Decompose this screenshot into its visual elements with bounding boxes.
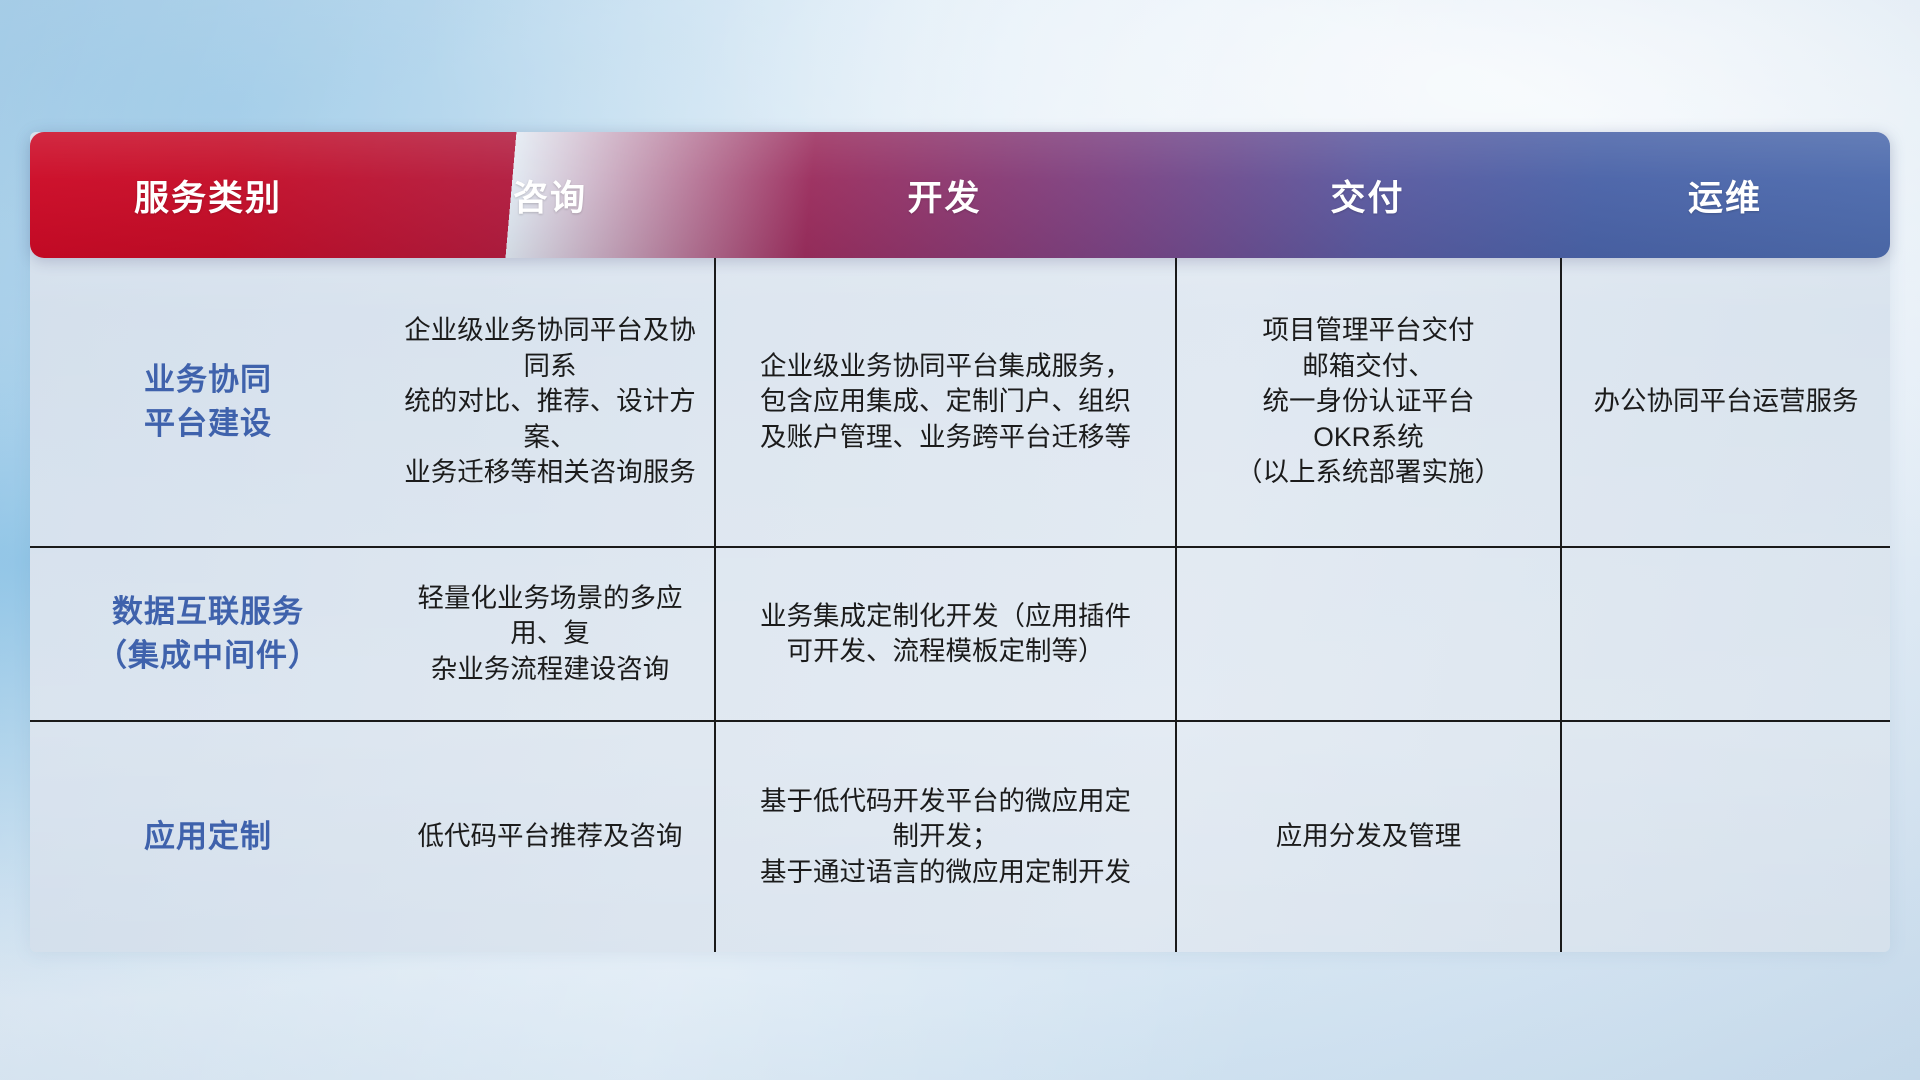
table-row: 低代码平台推荐及咨询	[386, 722, 714, 952]
table-row	[1562, 722, 1890, 952]
table-header-service-category: 服务类别	[30, 132, 386, 258]
table-row: 企业级业务协同平台集成服务， 包含应用集成、定制门户、组织 及账户管理、业务跨平…	[716, 258, 1175, 546]
service-matrix-table: 服务类别 咨询 开发 交付 运维 业务协同 平台建设 企业级业务协同平台及协同系…	[30, 132, 1890, 952]
table-row: 业务协同 平台建设	[30, 258, 386, 546]
table-row: 应用定制	[30, 722, 386, 952]
table-row	[1177, 548, 1560, 720]
table-row	[1562, 548, 1890, 720]
slide-canvas: 服务类别 咨询 开发 交付 运维 业务协同 平台建设 企业级业务协同平台及协同系…	[0, 0, 1920, 1080]
table-row: 数据互联服务 （集成中间件）	[30, 548, 386, 720]
table-row: 轻量化业务场景的多应用、复 杂业务流程建设咨询	[386, 548, 714, 720]
table-row: 应用分发及管理	[1177, 722, 1560, 952]
table-header-development: 开发	[714, 132, 1175, 258]
table-header-row: 服务类别 咨询 开发 交付 运维	[30, 132, 1890, 258]
table-row: 基于低代码开发平台的微应用定 制开发； 基于通过语言的微应用定制开发	[716, 722, 1175, 952]
table-header-consulting: 咨询	[386, 132, 714, 258]
table-body: 业务协同 平台建设 企业级业务协同平台及协同系 统的对比、推荐、设计方案、 业务…	[30, 258, 1890, 952]
table-row: 业务集成定制化开发（应用插件 可开发、流程模板定制等）	[716, 548, 1175, 720]
table-row: 企业级业务协同平台及协同系 统的对比、推荐、设计方案、 业务迁移等相关咨询服务	[386, 258, 714, 546]
table-row: 办公协同平台运营服务	[1562, 258, 1890, 546]
table-header-operations: 运维	[1560, 132, 1890, 258]
table-row: 项目管理平台交付 邮箱交付、 统一身份认证平台 OKR系统 （以上系统部署实施）	[1177, 258, 1560, 546]
table-header-delivery: 交付	[1175, 132, 1560, 258]
